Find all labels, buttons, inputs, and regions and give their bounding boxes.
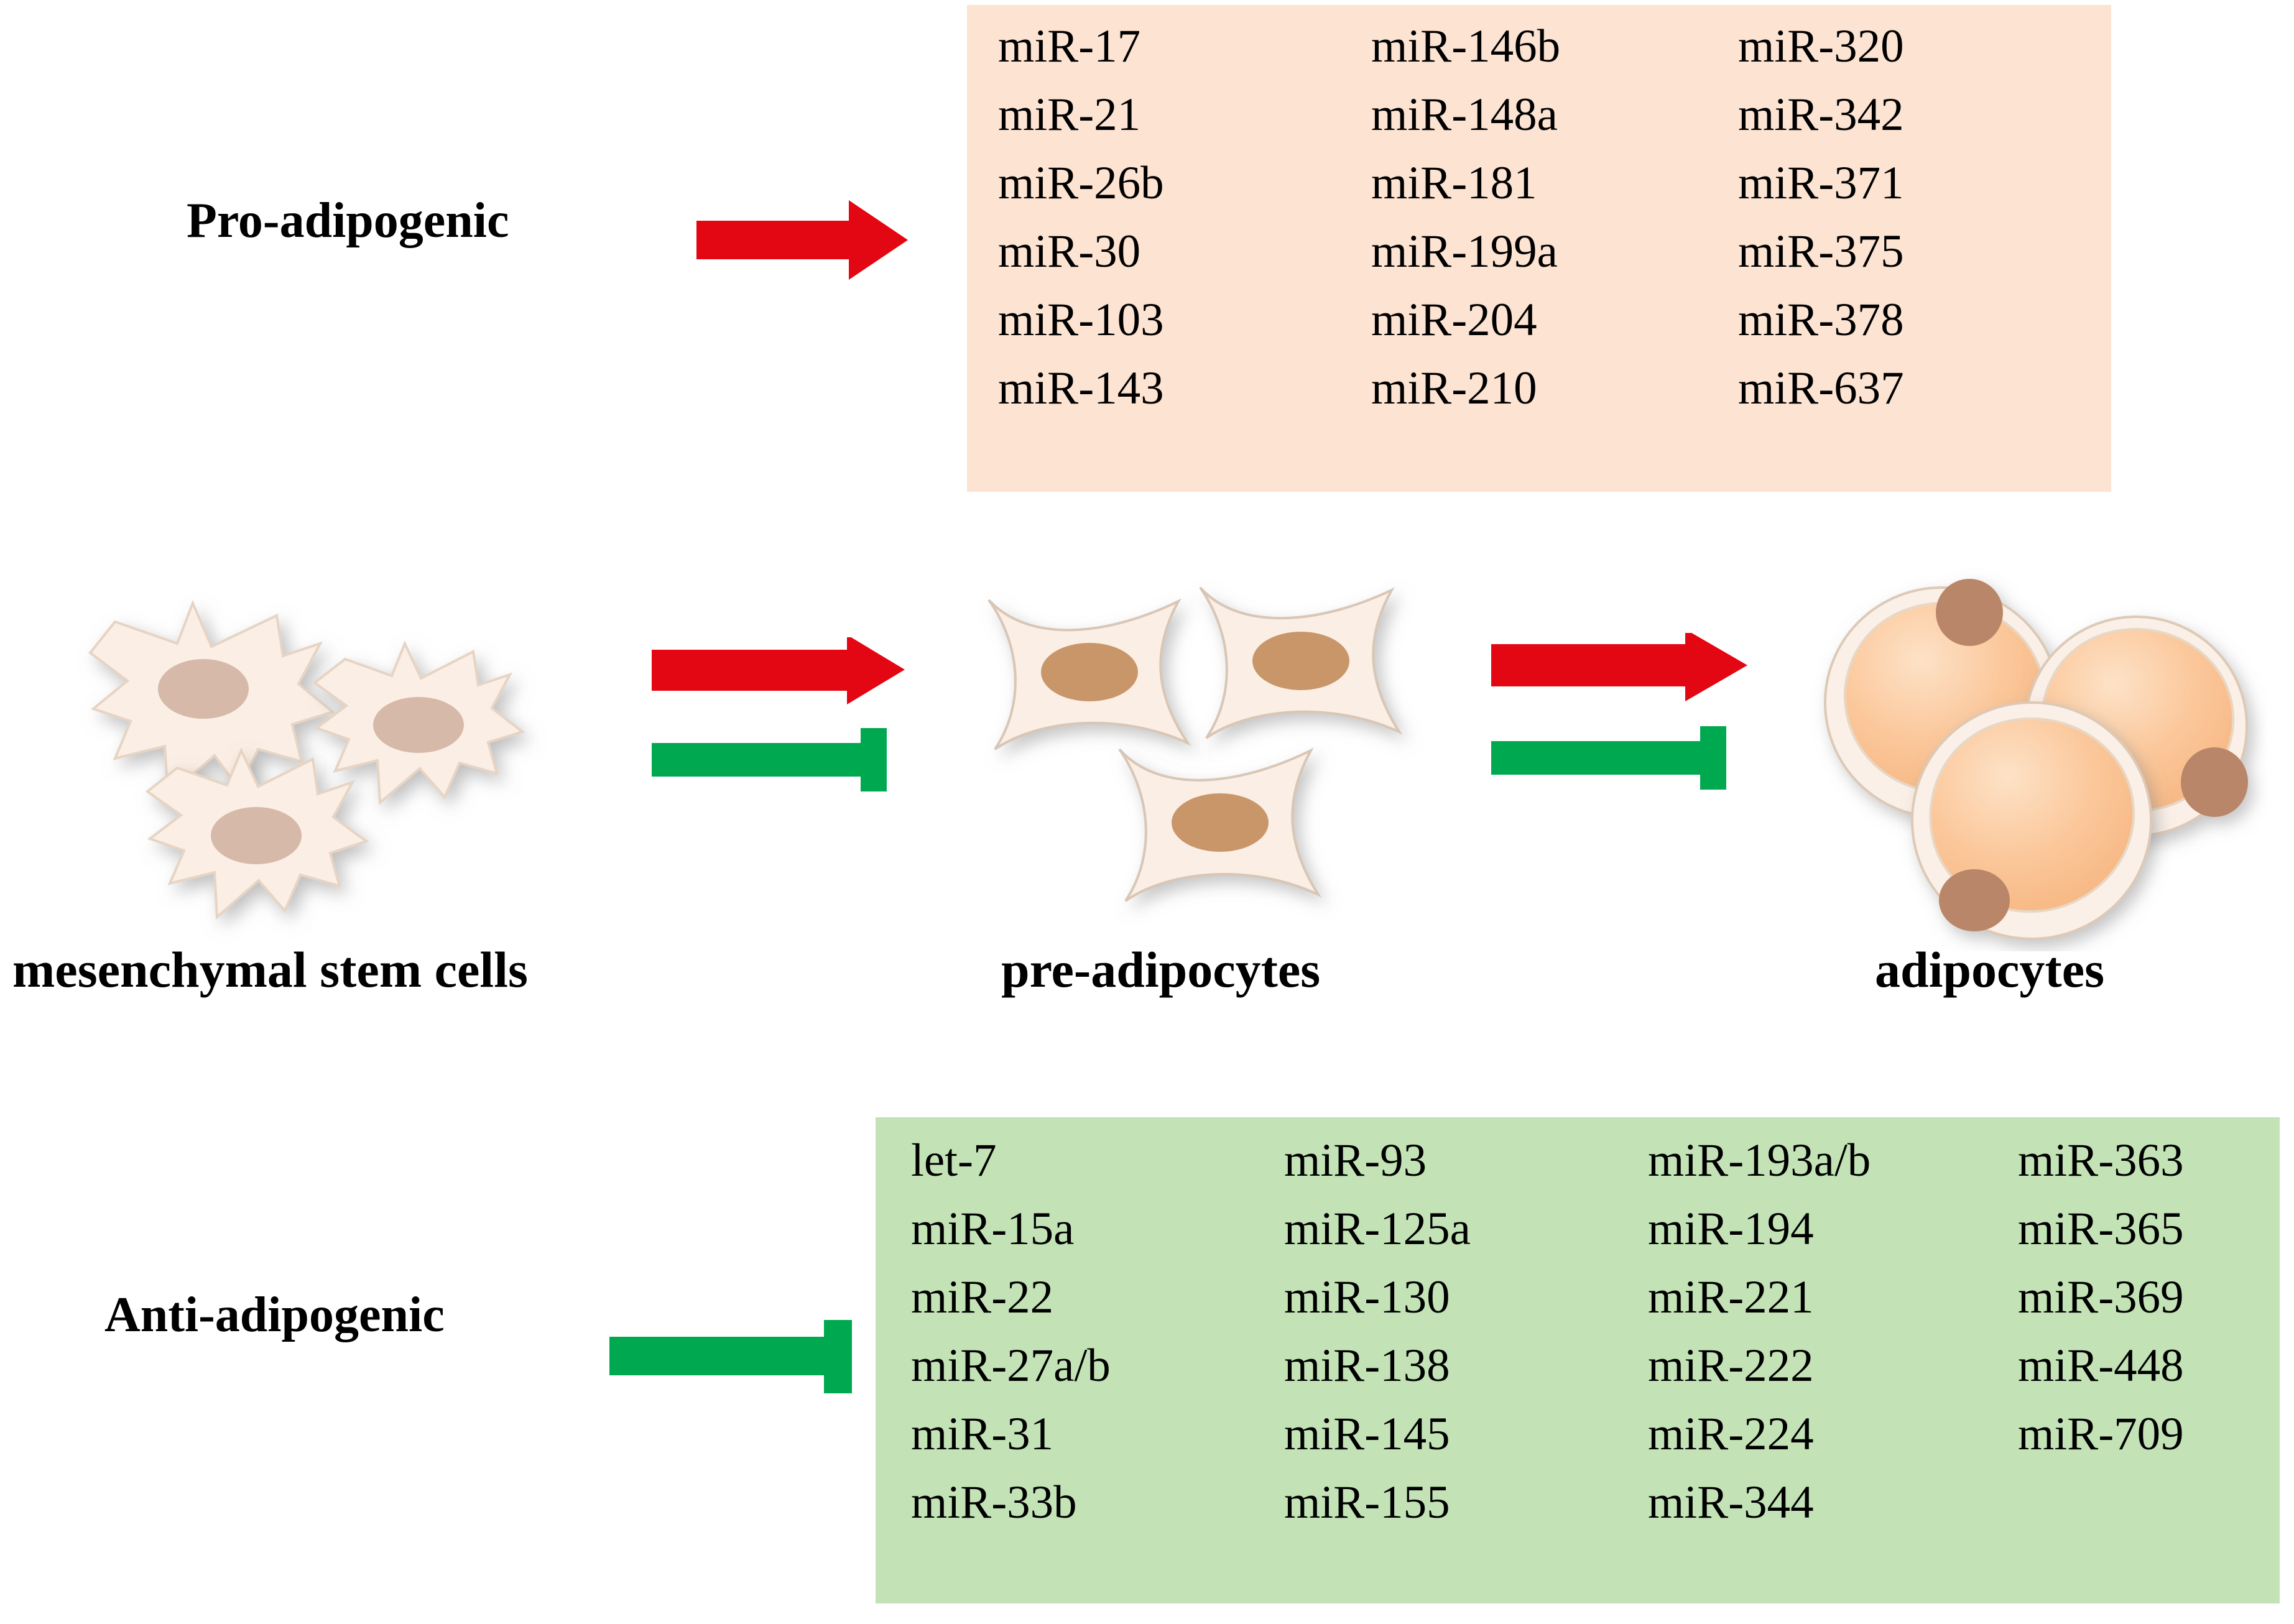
mirna-item: miR-371: [1738, 149, 2111, 218]
mirna-item: miR-30: [998, 218, 1371, 286]
anti-adipogenic-mirna-panel: let-7 miR-15a miR-22 miR-27a/b miR-31 mi…: [876, 1117, 2280, 1603]
green-t-bar-arrow-icon: [1486, 721, 1766, 808]
mirna-item: miR-130: [1284, 1263, 1648, 1332]
mirna-item: miR-15a: [911, 1195, 1284, 1263]
mesenchymal-stem-cells-label: mesenchymal stem cells: [12, 941, 528, 999]
mirna-item: miR-344: [1648, 1469, 2018, 1537]
mirna-item: miR-143: [998, 354, 1371, 423]
mirna-item: miR-33b: [911, 1469, 1284, 1537]
mirna-item: miR-155: [1284, 1469, 1648, 1537]
mirna-item: miR-224: [1648, 1400, 2018, 1469]
mirna-item: miR-221: [1648, 1263, 2018, 1332]
mirna-item: miR-709: [2018, 1400, 2279, 1469]
mirna-item: miR-375: [1738, 218, 2111, 286]
mirna-item: miR-320: [1738, 12, 2111, 81]
mirna-item: miR-637: [1738, 354, 2111, 423]
mirna-item: miR-125a: [1284, 1195, 1648, 1263]
mirna-item: miR-222: [1648, 1332, 2018, 1400]
mirna-item: miR-31: [911, 1400, 1284, 1469]
mirna-item: miR-342: [1738, 81, 2111, 149]
pre-adipocytes-label: pre-adipocytes: [1001, 941, 1320, 999]
mirna-item: miR-26b: [998, 149, 1371, 218]
mirna-item: miR-194: [1648, 1195, 2018, 1263]
adipocytes-icon: [1806, 560, 2267, 951]
pre-adipocytes-icon: [920, 563, 1436, 954]
green-t-bar-arrow-icon: [603, 1303, 864, 1408]
mirna-item: miR-148a: [1371, 81, 1738, 149]
mirna-item: miR-17: [998, 12, 1371, 81]
mirna-item: [2018, 1469, 2279, 1537]
mirna-item: miR-93: [1284, 1127, 1648, 1195]
pro-adipogenic-mirna-grid: miR-17 miR-21 miR-26b miR-30 miR-103 miR…: [998, 12, 2111, 423]
pro-adipogenic-label: Pro-adipogenic: [187, 193, 509, 249]
anti-adipogenic-label: Anti-adipogenic: [104, 1287, 445, 1344]
mirna-item: miR-145: [1284, 1400, 1648, 1469]
mirna-item: miR-138: [1284, 1332, 1648, 1400]
mirna-item: miR-146b: [1371, 12, 1738, 81]
mirna-item: miR-378: [1738, 286, 2111, 354]
mirna-item: miR-181: [1371, 149, 1738, 218]
mirna-item: miR-103: [998, 286, 1371, 354]
mesenchymal-stem-cells-icon: [34, 556, 594, 954]
adipocytes-label: adipocytes: [1875, 941, 2104, 999]
pro-adipogenic-mirna-panel: miR-17 miR-21 miR-26b miR-30 miR-103 miR…: [967, 5, 2111, 492]
mirna-item: miR-204: [1371, 286, 1738, 354]
mirna-item: miR-199a: [1371, 218, 1738, 286]
mirna-item: miR-448: [2018, 1332, 2279, 1400]
mirna-item: miR-210: [1371, 354, 1738, 423]
mirna-item: miR-193a/b: [1648, 1127, 2018, 1195]
red-right-arrow-icon: [690, 193, 914, 286]
mirna-item: miR-21: [998, 81, 1371, 149]
mirna-item: miR-22: [911, 1263, 1284, 1332]
mirna-item: let-7: [911, 1127, 1284, 1195]
mirna-item: miR-369: [2018, 1263, 2279, 1332]
adipogenesis-mirna-diagram: miR-17 miR-21 miR-26b miR-30 miR-103 miR…: [0, 0, 2294, 1624]
mirna-item: miR-365: [2018, 1195, 2279, 1263]
mirna-item: miR-27a/b: [911, 1332, 1284, 1400]
mirna-item: miR-363: [2018, 1127, 2279, 1195]
anti-adipogenic-mirna-grid: let-7 miR-15a miR-22 miR-27a/b miR-31 mi…: [911, 1127, 2279, 1537]
green-t-bar-arrow-icon: [647, 724, 914, 811]
